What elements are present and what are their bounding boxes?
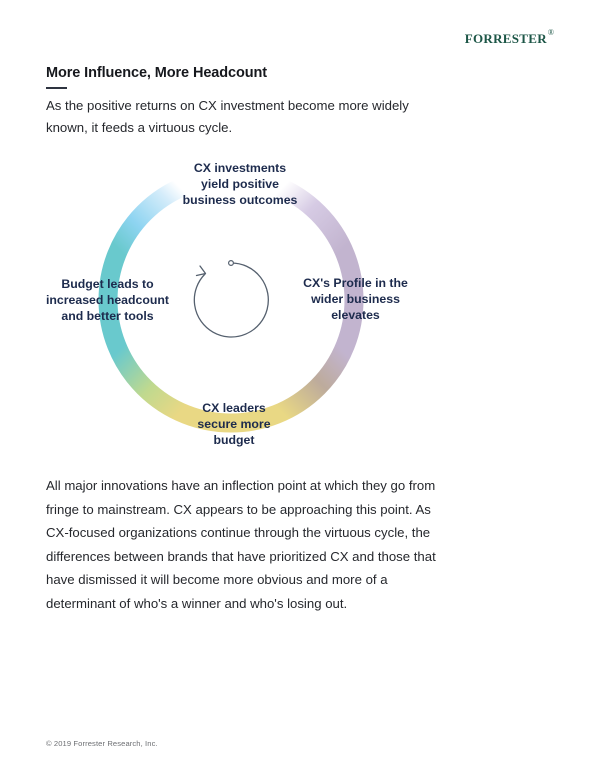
cycle-arrow-icon (194, 261, 268, 337)
forrester-logo: Forrester ® (465, 28, 554, 50)
virtuous-cycle-diagram: CX investments yield positive business o… (0, 150, 600, 460)
copyright-notice: © 2019 Forrester Research, Inc. (46, 739, 158, 748)
intro-paragraph: As the positive returns on CX investment… (46, 95, 446, 139)
ring-label-bottom: CX leaders secure more budget (170, 400, 298, 448)
logo-wordmark: Forrester (465, 28, 547, 47)
page-title: More Influence, More Headcount (46, 65, 267, 81)
page: Forrester ® More Influence, More Headcou… (0, 0, 600, 776)
ring-label-top: CX investments yield positive business o… (160, 160, 320, 208)
ring-label-left: Budget leads to increased headcount and … (30, 276, 185, 324)
registered-trademark-icon: ® (548, 29, 554, 37)
heading-rule (46, 87, 67, 89)
body-paragraph: All major innovations have an inflection… (46, 474, 456, 615)
ring-label-right: CX's Profile in the wider business eleva… (288, 275, 423, 323)
